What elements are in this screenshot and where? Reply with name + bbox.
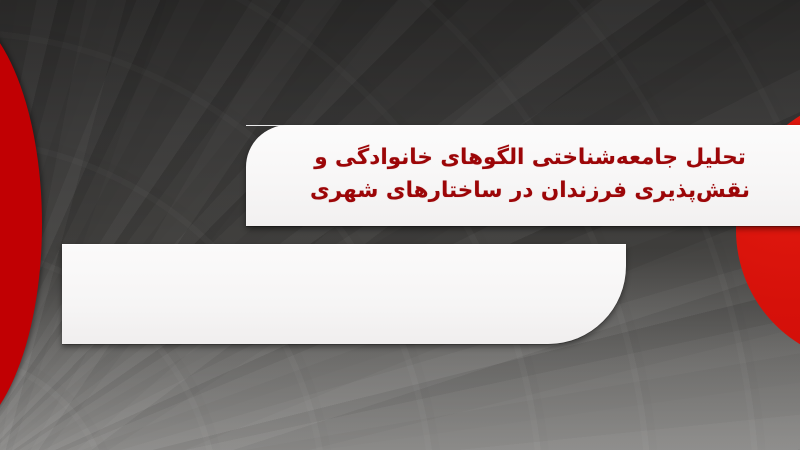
title-plate-highlight <box>246 125 800 126</box>
slide-title: تحلیل جامعه‌شناختی الگوهای خانوادگی و نق… <box>280 142 780 207</box>
subtitle-plate-highlight <box>62 244 626 245</box>
presentation-slide: تحلیل جامعه‌شناختی الگوهای خانوادگی و نق… <box>0 0 800 450</box>
slide-title-plate[interactable]: تحلیل جامعه‌شناختی الگوهای خانوادگی و نق… <box>246 125 800 226</box>
slide-subtitle-plate[interactable] <box>62 244 626 344</box>
